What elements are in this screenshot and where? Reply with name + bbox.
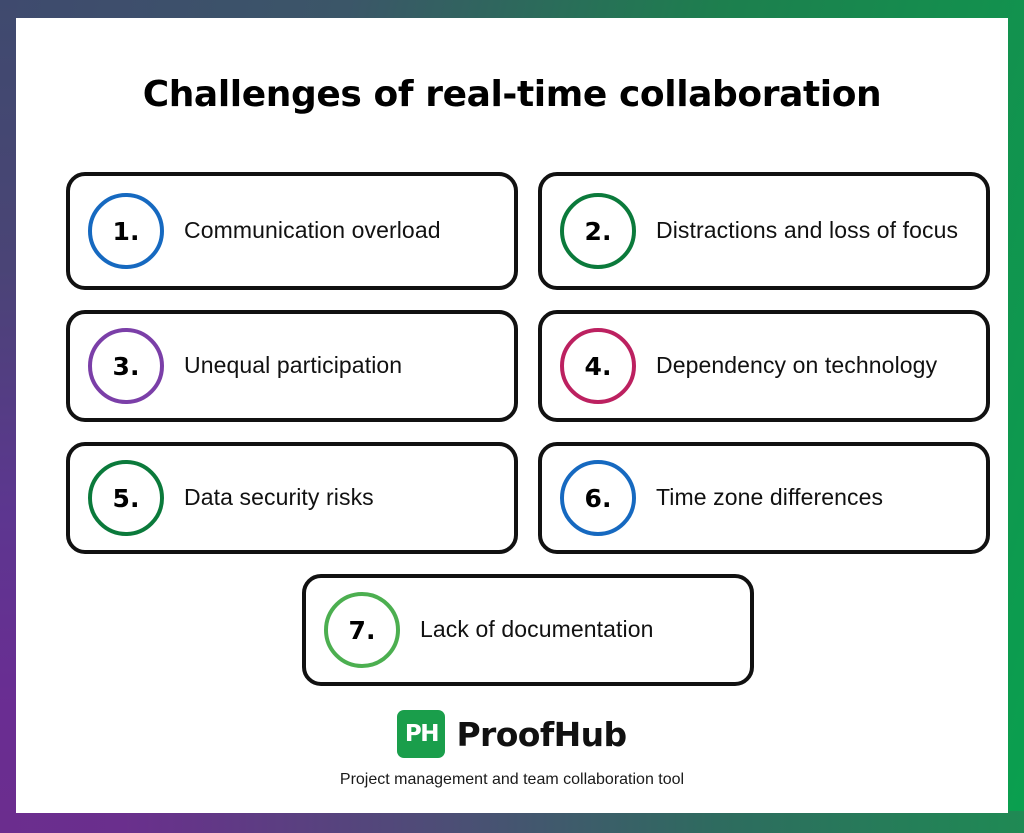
challenges-row-2: 3. Unequal participation 4. Dependency o… [66,310,990,422]
brand-name: ProofHub [456,715,626,754]
challenge-number-2: 2. [585,219,612,244]
challenge-number-5: 5. [113,486,140,511]
challenge-number-4: 4. [585,354,612,379]
page-title: Challenges of real-time collaboration [16,74,1008,115]
challenge-card-4[interactable]: 4. Dependency on technology [538,310,990,422]
challenge-number-7: 7. [349,618,376,643]
challenge-label-6: Time zone differences [656,482,883,514]
frame-bottom-gradient [0,811,1024,833]
infographic-poster: Challenges of real-time collaboration 1.… [0,0,1024,833]
challenge-number-3: 3. [113,354,140,379]
challenges-row-3: 5. Data security risks 6. Time zone diff… [66,442,990,554]
challenge-label-1: Communication overload [184,215,441,247]
challenges-row-1: 1. Communication overload 2. Distraction… [66,172,990,290]
challenge-number-badge-6: 6. [560,460,636,536]
challenge-number-badge-4: 4. [560,328,636,404]
challenge-label-2: Distractions and loss of focus [656,215,958,247]
challenge-number-6: 6. [585,486,612,511]
brand-tagline: Project management and team collaboratio… [16,771,1008,789]
challenge-card-3[interactable]: 3. Unequal participation [66,310,518,422]
footer: PH ProofHub Project management and team … [16,710,1008,789]
challenge-label-5: Data security risks [184,482,374,514]
challenge-card-5[interactable]: 5. Data security risks [66,442,518,554]
challenge-label-7: Lack of documentation [420,614,654,646]
brand-logo[interactable]: PH ProofHub [16,710,1008,758]
challenges-row-4: 7. Lack of documentation [66,574,990,686]
challenge-number-badge-1: 1. [88,193,164,269]
challenge-number-badge-5: 5. [88,460,164,536]
challenge-label-4: Dependency on technology [656,350,937,382]
challenge-number-1: 1. [113,219,140,244]
proofhub-logo-monogram: PH [405,721,438,747]
challenge-number-badge-7: 7. [324,592,400,668]
challenges-list: 1. Communication overload 2. Distraction… [66,172,990,706]
challenge-number-badge-2: 2. [560,193,636,269]
proofhub-logo-icon: PH [397,710,445,758]
frame-left-gradient [0,0,17,833]
challenge-card-2[interactable]: 2. Distractions and loss of focus [538,172,990,290]
challenge-card-7[interactable]: 7. Lack of documentation [302,574,754,686]
challenge-number-badge-3: 3. [88,328,164,404]
poster-content-area: Challenges of real-time collaboration 1.… [16,18,1008,813]
challenge-label-3: Unequal participation [184,350,402,382]
challenge-card-6[interactable]: 6. Time zone differences [538,442,990,554]
challenge-card-1[interactable]: 1. Communication overload [66,172,518,290]
